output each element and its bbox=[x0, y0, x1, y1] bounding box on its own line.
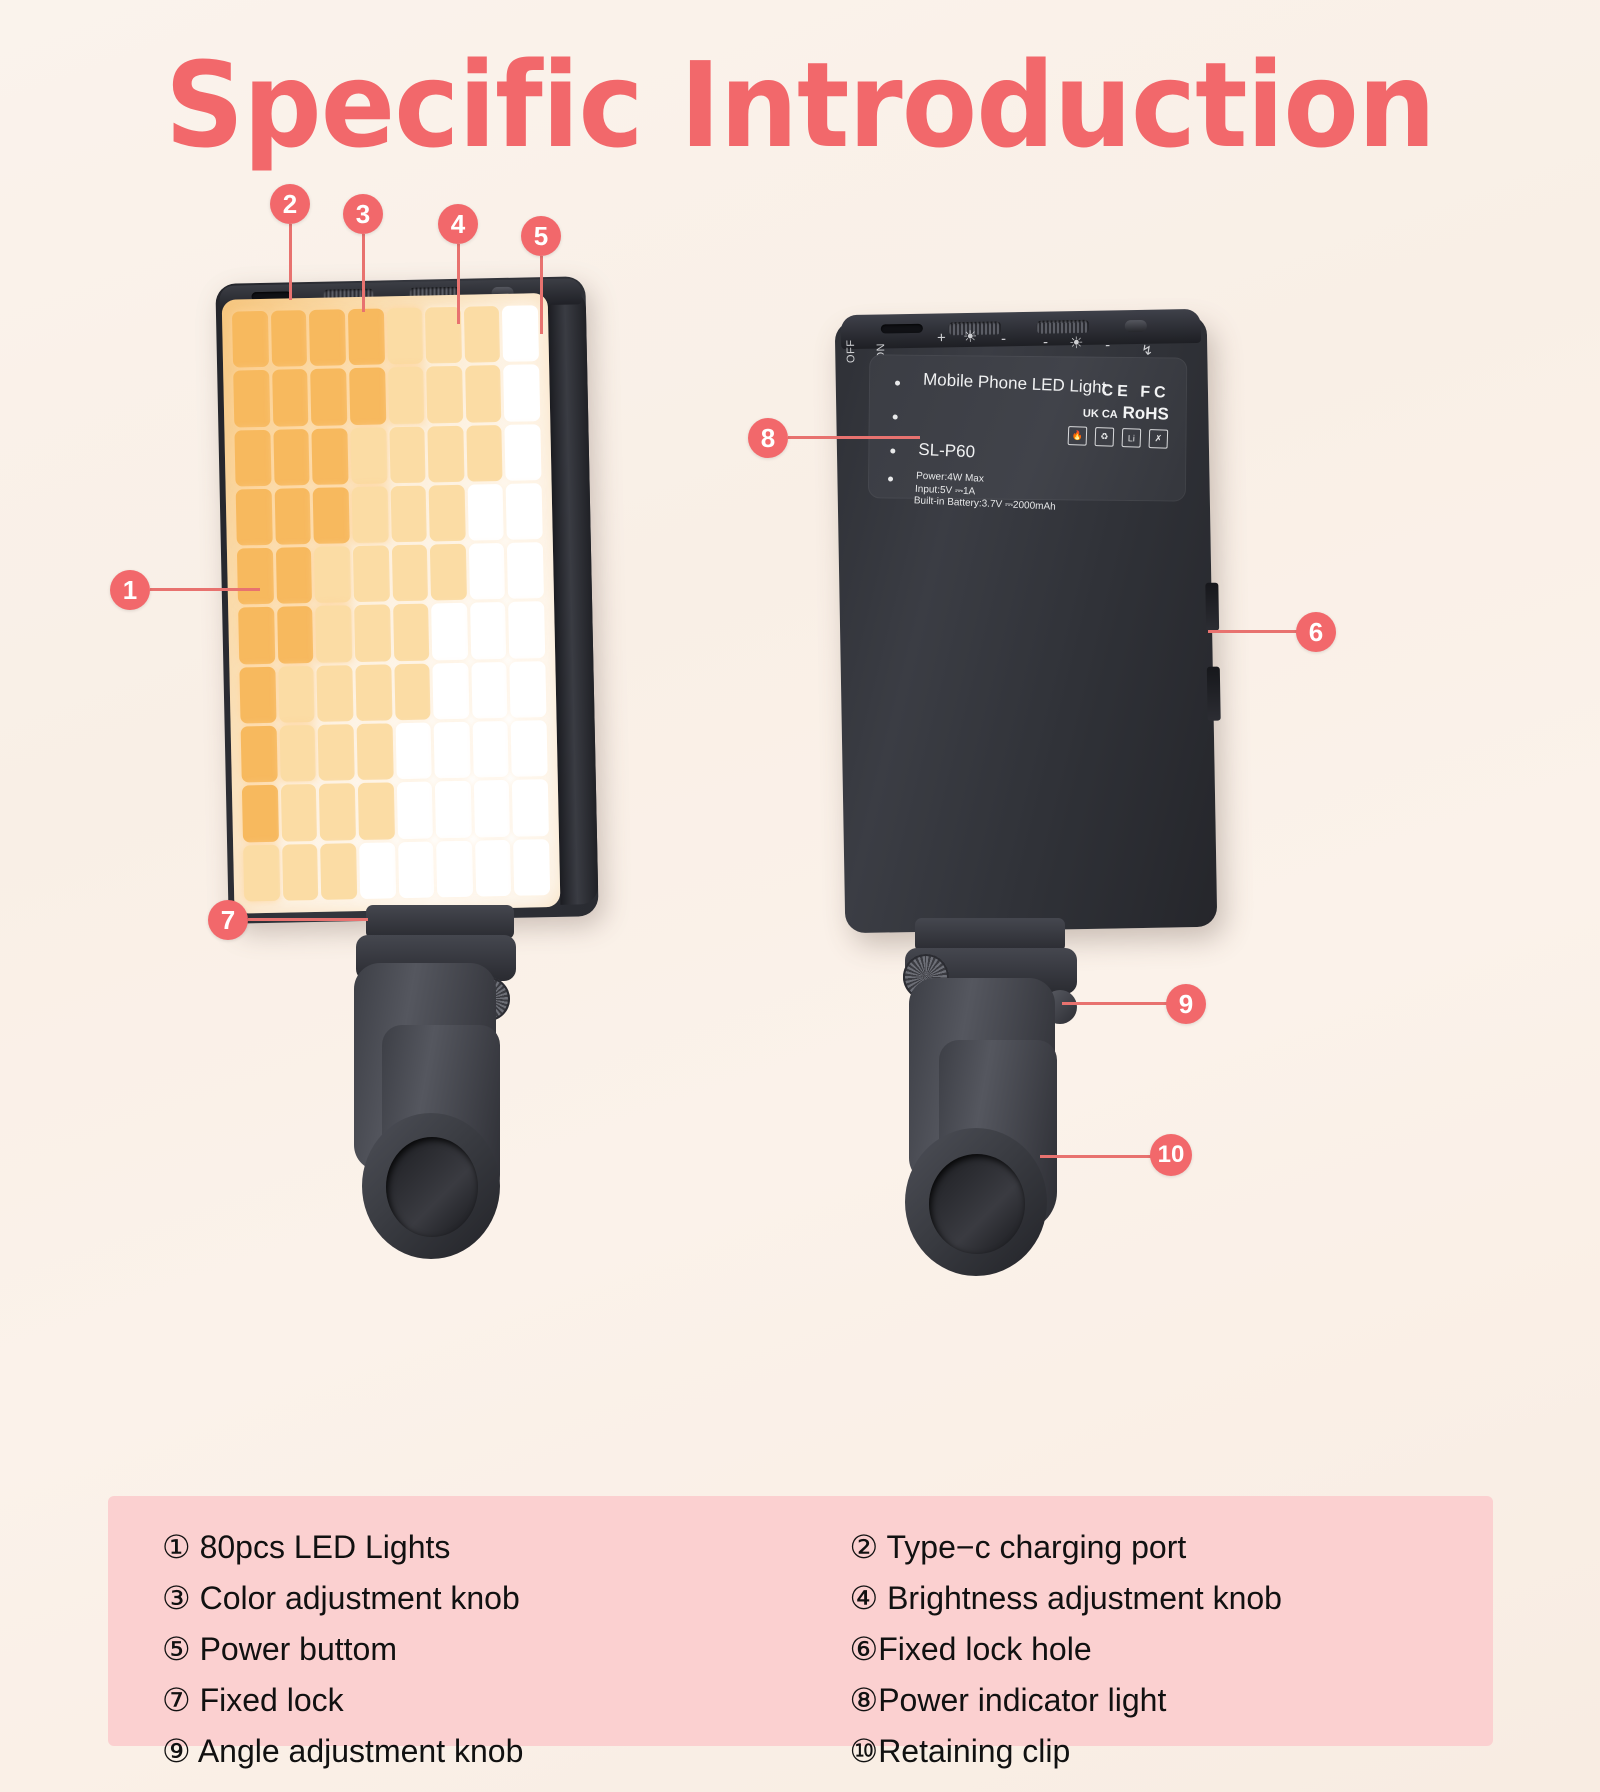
led-cell bbox=[356, 723, 393, 780]
product-model-text: SL-P60 bbox=[918, 440, 976, 463]
led-cell bbox=[508, 602, 545, 659]
callout-line-1 bbox=[150, 588, 260, 591]
back-clip-center-hole bbox=[929, 1154, 1025, 1254]
callout-line-7 bbox=[248, 918, 368, 921]
led-cell bbox=[274, 488, 311, 545]
callout-line-6 bbox=[1208, 630, 1300, 633]
led-cell bbox=[313, 487, 350, 544]
legend-item-10: ⑩Retaining clip bbox=[850, 1726, 1494, 1777]
led-cell bbox=[467, 484, 504, 541]
callout-badge-4[interactable]: 4 bbox=[438, 204, 478, 244]
legend-item-4: ④ Brightness adjustment knob bbox=[850, 1573, 1494, 1624]
led-cell bbox=[393, 604, 430, 661]
led-cell bbox=[358, 783, 395, 840]
marking-off: OFF bbox=[845, 339, 857, 363]
front-clip-center-hole bbox=[386, 1137, 478, 1237]
callout-badge-9[interactable]: 9 bbox=[1166, 984, 1206, 1024]
type-c-port-back bbox=[881, 324, 923, 334]
legend-column-right: ② Type−c charging port ④ Brightness adju… bbox=[828, 1522, 1494, 1777]
led-cell bbox=[272, 369, 309, 426]
callout-badge-6[interactable]: 6 bbox=[1296, 612, 1336, 652]
indicator-dot-1 bbox=[895, 381, 900, 386]
led-cell bbox=[237, 548, 274, 605]
led-cell bbox=[242, 785, 279, 842]
led-cell bbox=[505, 424, 542, 481]
legend-panel: ① 80pcs LED Lights ③ Color adjustment kn… bbox=[108, 1496, 1493, 1746]
recycle-icon: ♻ bbox=[1095, 427, 1115, 447]
callout-line-5 bbox=[540, 256, 543, 334]
led-cell bbox=[276, 547, 313, 604]
led-cell bbox=[239, 667, 276, 724]
legend-item-5: ⑤ Power buttom bbox=[162, 1624, 828, 1675]
marking-plus: + bbox=[937, 329, 947, 346]
product-label-plate: Mobile Phone LED Light SL-P60 Power:4W M… bbox=[868, 354, 1187, 501]
led-cell bbox=[464, 306, 501, 363]
legend-item-2: ② Type−c charging port bbox=[850, 1522, 1494, 1573]
callout-badge-2[interactable]: 2 bbox=[270, 184, 310, 224]
led-cell bbox=[278, 666, 315, 723]
led-cell bbox=[430, 544, 467, 601]
indicator-dot-2 bbox=[893, 415, 898, 420]
led-cell bbox=[466, 425, 503, 482]
led-cell bbox=[232, 311, 269, 368]
led-cell bbox=[354, 605, 391, 662]
led-cell bbox=[470, 602, 507, 659]
back-clip-assembly bbox=[895, 918, 1145, 1278]
fc-mark: FC bbox=[1140, 384, 1170, 402]
led-cell bbox=[502, 305, 539, 362]
led-cell bbox=[429, 485, 466, 542]
rohs-mark: RoHS bbox=[1122, 403, 1169, 424]
flame-icon: 🔥 bbox=[1068, 426, 1088, 446]
led-cell bbox=[474, 780, 511, 837]
led-cell bbox=[309, 309, 346, 366]
led-cell bbox=[236, 489, 273, 546]
front-clip-mount-plate bbox=[366, 905, 514, 939]
legend-item-7: ⑦ Fixed lock bbox=[162, 1675, 828, 1726]
ce-mark: CE bbox=[1101, 382, 1132, 400]
led-cell bbox=[426, 366, 463, 423]
led-cell bbox=[233, 370, 270, 427]
back-clip-mount-plate bbox=[915, 918, 1065, 952]
callout-badge-5[interactable]: 5 bbox=[521, 216, 561, 256]
led-cell bbox=[465, 365, 502, 422]
led-cell bbox=[471, 662, 508, 719]
callout-line-3 bbox=[362, 234, 365, 312]
led-cell bbox=[318, 724, 355, 781]
led-cell bbox=[389, 426, 426, 483]
led-cell bbox=[320, 843, 357, 900]
led-grid bbox=[228, 301, 554, 905]
led-cell bbox=[434, 722, 471, 779]
led-light-front-view bbox=[215, 276, 598, 924]
led-cell bbox=[503, 364, 540, 421]
led-cell bbox=[350, 427, 387, 484]
certification-marks: CE FC UK CA RoHS 🔥 ♻ Li ✗ bbox=[1068, 381, 1170, 449]
led-cell bbox=[386, 308, 423, 365]
legend-item-3: ③ Color adjustment knob bbox=[162, 1573, 828, 1624]
weee-bin-icon: ✗ bbox=[1149, 429, 1169, 449]
callout-line-10 bbox=[1040, 1155, 1154, 1158]
indicator-dot-4 bbox=[888, 476, 893, 481]
led-cell bbox=[427, 425, 464, 482]
led-cell bbox=[238, 607, 275, 664]
led-cell bbox=[315, 606, 352, 663]
led-cell bbox=[506, 483, 543, 540]
led-cell bbox=[431, 603, 468, 660]
led-cell bbox=[348, 308, 385, 365]
legend-grid: ① 80pcs LED Lights ③ Color adjustment kn… bbox=[108, 1522, 1493, 1777]
callout-badge-10[interactable]: 10 bbox=[1150, 1134, 1192, 1176]
led-cell bbox=[511, 720, 548, 777]
legend-item-6: ⑥Fixed lock hole bbox=[850, 1624, 1494, 1675]
brightness-adjustment-knob-back bbox=[1037, 320, 1089, 334]
led-cell bbox=[398, 841, 435, 898]
led-cell bbox=[310, 369, 347, 426]
led-cell bbox=[349, 368, 386, 425]
led-cell bbox=[319, 784, 356, 841]
led-cell bbox=[510, 661, 547, 718]
page-title: Specific Introduction bbox=[56, 44, 1544, 168]
led-cell bbox=[355, 664, 392, 721]
led-cell bbox=[512, 779, 549, 836]
led-cell bbox=[475, 840, 512, 897]
led-cell bbox=[277, 606, 314, 663]
marking-color-minus: - bbox=[1043, 334, 1049, 351]
led-cell bbox=[469, 543, 506, 600]
led-light-back-view: OFF ON + ☀ - - ☀ - ↯ Mobile Phone LED Li… bbox=[835, 315, 1218, 933]
infographic-canvas: Specific Introduction bbox=[0, 0, 1600, 1792]
led-cell bbox=[317, 665, 354, 722]
callout-line-4 bbox=[457, 244, 460, 324]
callout-badge-3[interactable]: 3 bbox=[343, 194, 383, 234]
liion-icon: Li bbox=[1122, 428, 1142, 448]
marking-minus: - bbox=[1001, 330, 1007, 347]
callout-badge-8[interactable]: 8 bbox=[748, 418, 788, 458]
led-cell bbox=[279, 725, 316, 782]
fixed-lock-hole-lower bbox=[1207, 667, 1221, 721]
legend-item-8: ⑧Power indicator light bbox=[850, 1675, 1494, 1726]
led-cell bbox=[234, 429, 271, 486]
led-cell bbox=[388, 367, 425, 424]
led-cell bbox=[351, 486, 388, 543]
indicator-dot-3 bbox=[890, 449, 895, 454]
sun-icon: ☀ bbox=[963, 327, 978, 347]
led-cell bbox=[273, 429, 310, 486]
led-cell bbox=[432, 663, 469, 720]
led-cell bbox=[280, 784, 317, 841]
led-cell bbox=[359, 842, 396, 899]
led-cell bbox=[241, 726, 278, 783]
led-cell bbox=[472, 721, 509, 778]
ukca-mark: UK CA bbox=[1083, 408, 1118, 421]
callout-badge-1[interactable]: 1 bbox=[110, 570, 150, 610]
led-cell bbox=[282, 844, 319, 901]
callout-line-8 bbox=[788, 436, 920, 439]
led-cell bbox=[435, 781, 472, 838]
led-cell bbox=[436, 840, 473, 897]
led-cell bbox=[353, 546, 390, 603]
led-cell bbox=[312, 428, 349, 485]
color-temp-icon: ☀ bbox=[1069, 333, 1084, 353]
legend-item-9: ⑨ Angle adjustment knob bbox=[162, 1726, 828, 1777]
fixed-lock-hole-upper bbox=[1205, 583, 1219, 631]
led-cell bbox=[513, 839, 550, 896]
led-cell bbox=[507, 542, 544, 599]
legend-item-1: ① 80pcs LED Lights bbox=[162, 1522, 828, 1573]
led-cell bbox=[394, 663, 431, 720]
marking-color-plus: - bbox=[1105, 336, 1111, 353]
front-clip-assembly bbox=[348, 905, 578, 1265]
callout-line-9 bbox=[1062, 1002, 1170, 1005]
led-diffuser-panel bbox=[222, 293, 561, 914]
led-cell bbox=[391, 545, 428, 602]
led-cell bbox=[243, 844, 280, 901]
led-cell bbox=[314, 546, 351, 603]
legend-column-left: ① 80pcs LED Lights ③ Color adjustment kn… bbox=[162, 1522, 828, 1777]
led-cell bbox=[395, 723, 432, 780]
led-cell bbox=[396, 782, 433, 839]
power-button-back bbox=[1125, 320, 1147, 332]
led-cell bbox=[390, 485, 427, 542]
led-cell bbox=[271, 310, 308, 367]
callout-line-2 bbox=[289, 224, 292, 300]
callout-badge-7[interactable]: 7 bbox=[208, 900, 248, 940]
